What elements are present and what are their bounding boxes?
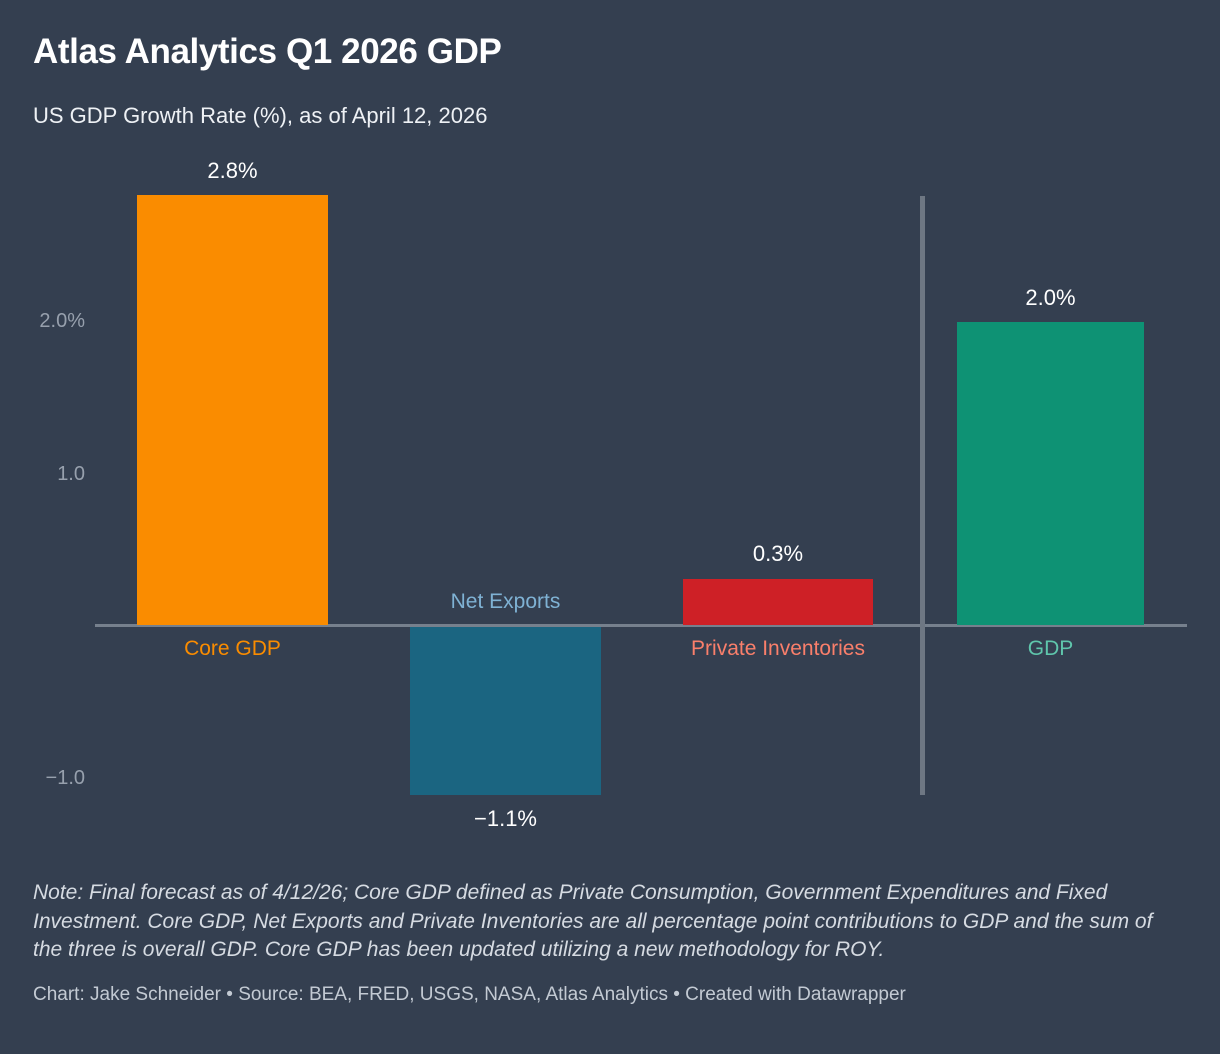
chart-note: Note: Final forecast as of 4/12/26; Core… (33, 879, 1173, 965)
plot-area: 2.0% 1.0 −1.0 2.8% Core GDP Net Exports … (0, 0, 1220, 860)
category-separator-line (920, 196, 925, 795)
bar-gdp[interactable] (957, 322, 1144, 625)
bar-net-exports[interactable] (410, 627, 601, 795)
bar-value-net-exports: −1.1% (410, 806, 601, 832)
bar-label-net-exports: Net Exports (410, 590, 601, 614)
bar-value-core-gdp: 2.8% (137, 158, 328, 184)
bar-value-private-inventories: 0.3% (683, 541, 873, 567)
bar-core-gdp[interactable] (137, 195, 328, 625)
chart-canvas: Atlas Analytics Q1 2026 GDP US GDP Growt… (0, 0, 1220, 1054)
bar-label-core-gdp: Core GDP (137, 637, 328, 661)
y-tick-label-1: 1.0 (5, 463, 85, 486)
chart-credit: Chart: Jake Schneider • Source: BEA, FRE… (33, 984, 906, 1006)
bar-value-gdp: 2.0% (957, 285, 1144, 311)
bar-private-inventories[interactable] (683, 579, 873, 625)
bar-label-gdp: GDP (957, 637, 1144, 661)
bar-label-private-inventories: Private Inventories (683, 637, 873, 661)
y-tick-label-2: 2.0% (5, 310, 85, 333)
y-tick-label-minus1: −1.0 (5, 767, 85, 790)
